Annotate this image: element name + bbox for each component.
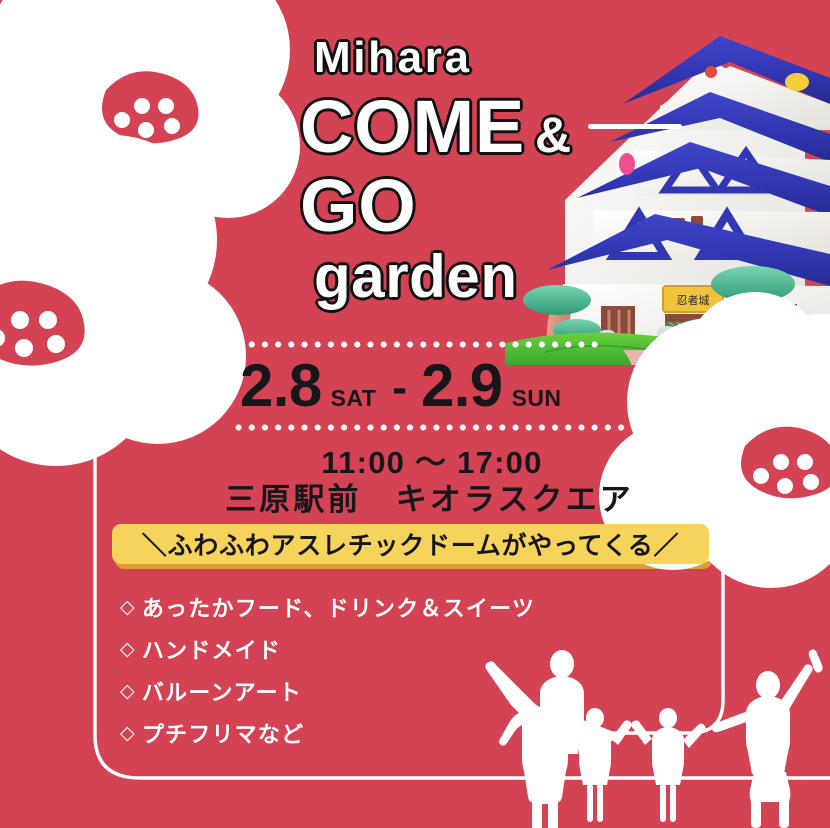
- list-item-label: あったかフード、ドリンク＆スイーツ: [142, 591, 535, 623]
- title-dash-line: [588, 124, 682, 129]
- title-garden: garden: [314, 247, 720, 307]
- family-silhouettes: [420, 640, 830, 828]
- title-ampersand: &: [535, 106, 572, 164]
- diamond-icon: ◇: [120, 596, 136, 619]
- plum-blossom-right: [615, 300, 830, 620]
- date-start-dow: SAT: [331, 385, 377, 412]
- title-subtitle: Mihara: [314, 36, 720, 80]
- list-item: ◇ あったかフード、ドリンク＆スイーツ: [120, 588, 535, 626]
- dotted-divider-top: [232, 341, 602, 348]
- list-item-label: プチフリマなど: [142, 717, 304, 749]
- diamond-icon: ◇: [120, 638, 136, 661]
- date-separator: -: [392, 363, 407, 413]
- title-go: GO: [300, 168, 720, 243]
- event-venue: 三原駅前 キオラスクエア: [222, 474, 637, 519]
- diamond-icon: ◇: [120, 722, 136, 745]
- poster-title: Mihara COME & GO garden: [300, 36, 720, 307]
- title-come: COME: [300, 90, 525, 164]
- event-poster: 忍者城: [0, 0, 830, 828]
- event-date-row: 2.8 SAT - 2.9 SUN: [240, 356, 640, 418]
- dotted-divider-bottom: [232, 424, 636, 431]
- list-item-label: ハンドメイド: [142, 633, 281, 665]
- date-start: 2.8: [240, 356, 322, 416]
- date-end: 2.9: [421, 356, 503, 416]
- date-end-dow: SUN: [512, 385, 562, 412]
- highlight-banner: ＼ふわふわアスレチックドームがやってくる／: [112, 524, 709, 564]
- list-item-label: バルーンアート: [142, 675, 302, 707]
- diamond-icon: ◇: [120, 680, 136, 703]
- banner-text: ＼ふわふわアスレチックドームがやってくる／: [142, 526, 680, 562]
